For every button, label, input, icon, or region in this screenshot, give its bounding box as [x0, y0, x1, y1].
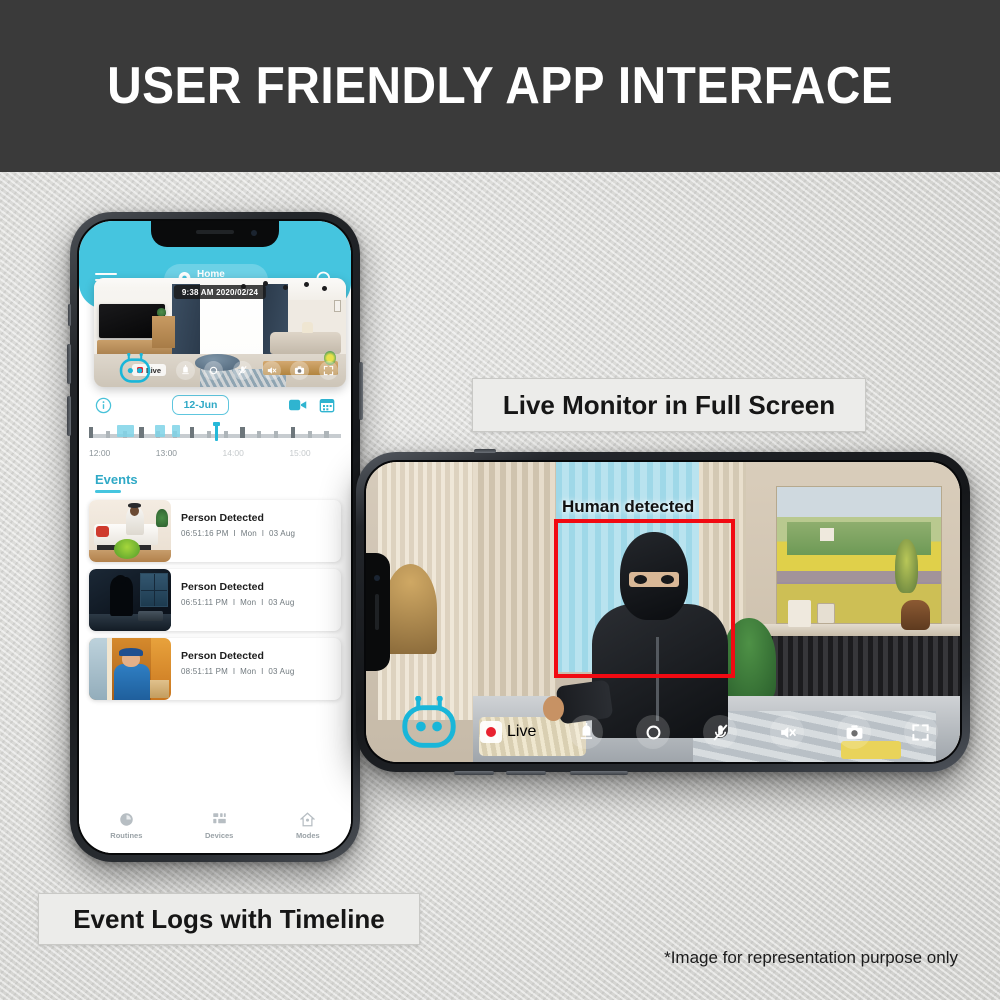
event-title: Person Detected — [181, 650, 341, 662]
phone-mute-switch — [68, 304, 71, 326]
callout-event-logs: Event Logs with Timeline — [38, 893, 420, 945]
app-body: 12-Jun 12:0013:0014:0015:00 Even — [79, 387, 351, 853]
front-camera — [251, 230, 257, 236]
record-dot-icon — [137, 367, 143, 373]
phone-power-button — [359, 362, 363, 420]
event-thumbnail — [89, 638, 171, 700]
timeline-ruler[interactable] — [89, 424, 341, 446]
live-label: Live — [507, 723, 536, 741]
event-thumbnail — [89, 569, 171, 631]
events-list: Person Detected 06:51:16 PM I Mon I 03 A… — [79, 500, 351, 700]
record-icon[interactable] — [204, 361, 223, 380]
live-indicator-badge[interactable]: Live — [132, 364, 166, 376]
phone-notch — [366, 553, 390, 671]
timeline-time-label: 13:00 — [156, 448, 177, 458]
nav-label-routines: Routines — [110, 831, 142, 840]
timeline-tick — [337, 434, 341, 438]
fullscreen-control-bar: Live — [366, 712, 960, 752]
nav-label-modes: Modes — [296, 831, 320, 840]
video-camera-icon[interactable] — [288, 395, 308, 415]
nav-item-devices[interactable]: Devices — [205, 812, 233, 840]
timeline-playhead[interactable] — [215, 422, 218, 441]
timeline-time-label: 12:00 — [89, 448, 110, 458]
landscape-phone-screen: Human detected Live — [364, 460, 962, 764]
event-title: Person Detected — [181, 581, 341, 593]
events-section-title: Events — [95, 472, 351, 487]
event-meta: 08:51:11 PM I Mon I 03 Aug — [181, 667, 341, 676]
camera-timestamp: 9:38 AM 2020/02/24 — [174, 285, 266, 299]
date-picker-pill[interactable]: 12-Jun — [172, 395, 230, 415]
portrait-phone-device: Home Garage — [70, 212, 360, 862]
phone-volume-up-button — [67, 344, 71, 384]
events-title-underline — [95, 490, 121, 493]
portrait-phone-screen: Home Garage — [77, 219, 353, 855]
callout-live-monitor: Live Monitor in Full Screen — [472, 378, 866, 432]
timeline-time-label: 15:00 — [289, 448, 310, 458]
event-title: Person Detected — [181, 512, 341, 524]
nav-item-routines[interactable]: Routines — [110, 812, 142, 840]
bottom-navigation-bar: Routines Devices Modes — [79, 803, 351, 853]
timeline-header: 12-Jun — [79, 387, 351, 417]
snapshot-icon[interactable] — [837, 715, 871, 749]
live-camera-card[interactable]: 9:38 AM 2020/02/24 Live — [94, 278, 346, 387]
live-indicator-badge[interactable]: Live — [480, 721, 536, 743]
banner-title: USER FRIENDLY APP INTERFACE — [107, 56, 893, 116]
event-list-item[interactable]: Person Detected 08:51:11 PM I Mon I 03 A… — [89, 638, 341, 700]
speaker-muted-icon[interactable] — [262, 361, 281, 380]
earpiece-speaker — [196, 230, 234, 234]
calendar-icon[interactable] — [317, 395, 337, 415]
phone-volume-down-button — [67, 396, 71, 436]
event-meta: 06:51:16 PM I Mon I 03 Aug — [181, 529, 341, 538]
home-icon — [300, 812, 315, 827]
siren-icon[interactable] — [569, 715, 603, 749]
timeline-time-label: 14:00 — [223, 448, 244, 458]
detection-bounding-box — [554, 519, 735, 678]
timeline-time-labels: 12:0013:0014:0015:00 — [89, 448, 341, 460]
landscape-phone-device: Human detected Live — [356, 452, 970, 772]
record-icon[interactable] — [636, 715, 670, 749]
siren-icon[interactable] — [176, 361, 195, 380]
nav-label-devices: Devices — [205, 831, 233, 840]
event-thumbnail — [89, 500, 171, 562]
phone-notch — [151, 221, 279, 247]
phone-volume-down-button — [506, 771, 546, 775]
clock-icon — [119, 812, 134, 827]
live-label: Live — [146, 366, 161, 375]
disclaimer-text: *Image for representation purpose only — [664, 948, 958, 968]
mic-muted-icon[interactable] — [703, 715, 737, 749]
earpiece-speaker — [375, 594, 379, 630]
phone-power-button — [570, 771, 628, 775]
record-dot-icon — [480, 721, 502, 743]
page-banner: USER FRIENDLY APP INTERFACE — [0, 0, 1000, 172]
grid-icon — [212, 812, 227, 827]
snapshot-icon[interactable] — [290, 361, 309, 380]
detection-label: Human detected — [562, 497, 694, 517]
nav-item-modes[interactable]: Modes — [296, 812, 320, 840]
mic-muted-icon[interactable] — [233, 361, 252, 380]
phone-mute-switch — [474, 449, 496, 453]
phone-volume-up-button — [454, 771, 494, 775]
front-camera — [374, 575, 380, 581]
event-list-item[interactable]: Person Detected 06:51:11 PM I Mon I 03 A… — [89, 569, 341, 631]
fullscreen-icon[interactable] — [904, 715, 938, 749]
speaker-muted-icon[interactable] — [770, 715, 804, 749]
event-list-item[interactable]: Person Detected 06:51:16 PM I Mon I 03 A… — [89, 500, 341, 562]
fullscreen-icon[interactable] — [319, 361, 338, 380]
info-icon[interactable] — [93, 395, 113, 415]
event-meta: 06:51:11 PM I Mon I 03 Aug — [181, 598, 341, 607]
camera-control-bar: Live — [94, 358, 346, 382]
